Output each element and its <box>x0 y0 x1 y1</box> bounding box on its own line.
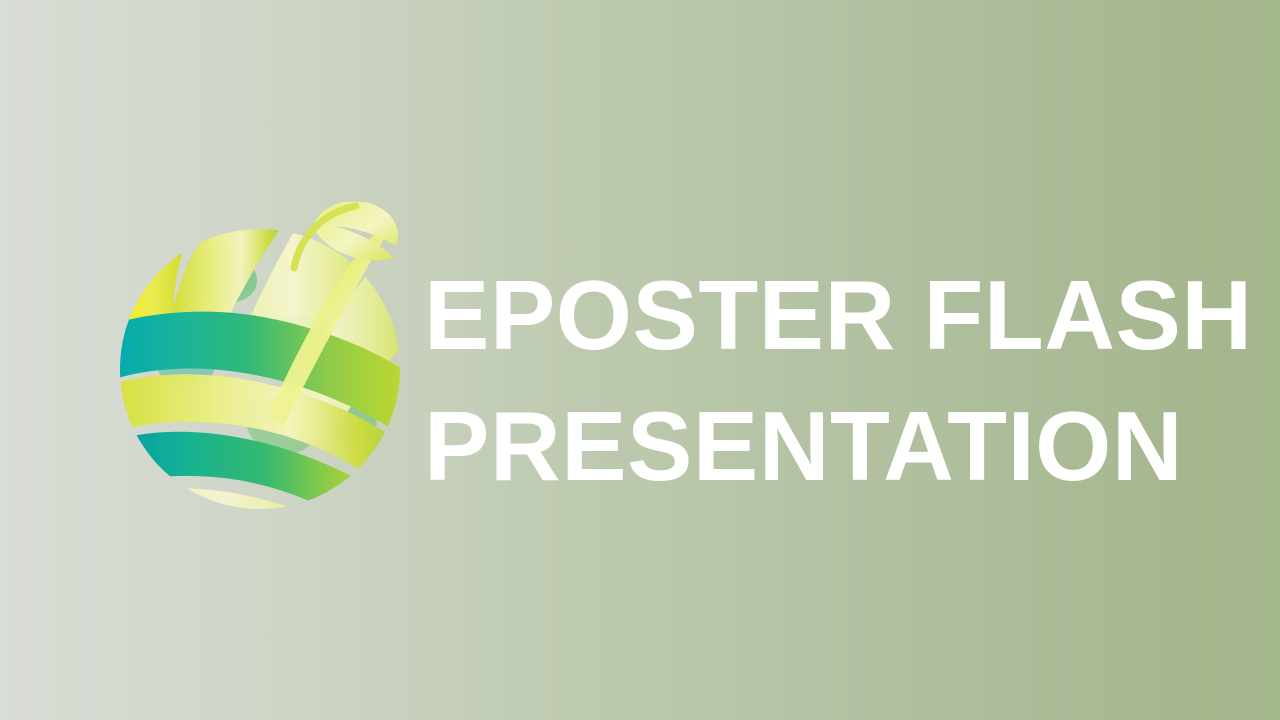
slide-canvas: EPOSTER FLASH PRESENTATION <box>0 0 1280 720</box>
title-line-2: PRESENTATION <box>424 381 1224 512</box>
page-title: EPOSTER FLASH PRESENTATION <box>424 250 1224 512</box>
title-line-1: EPOSTER FLASH <box>424 250 1224 381</box>
globe-leaf-logo <box>118 202 403 517</box>
ribbon-8 <box>118 488 386 517</box>
